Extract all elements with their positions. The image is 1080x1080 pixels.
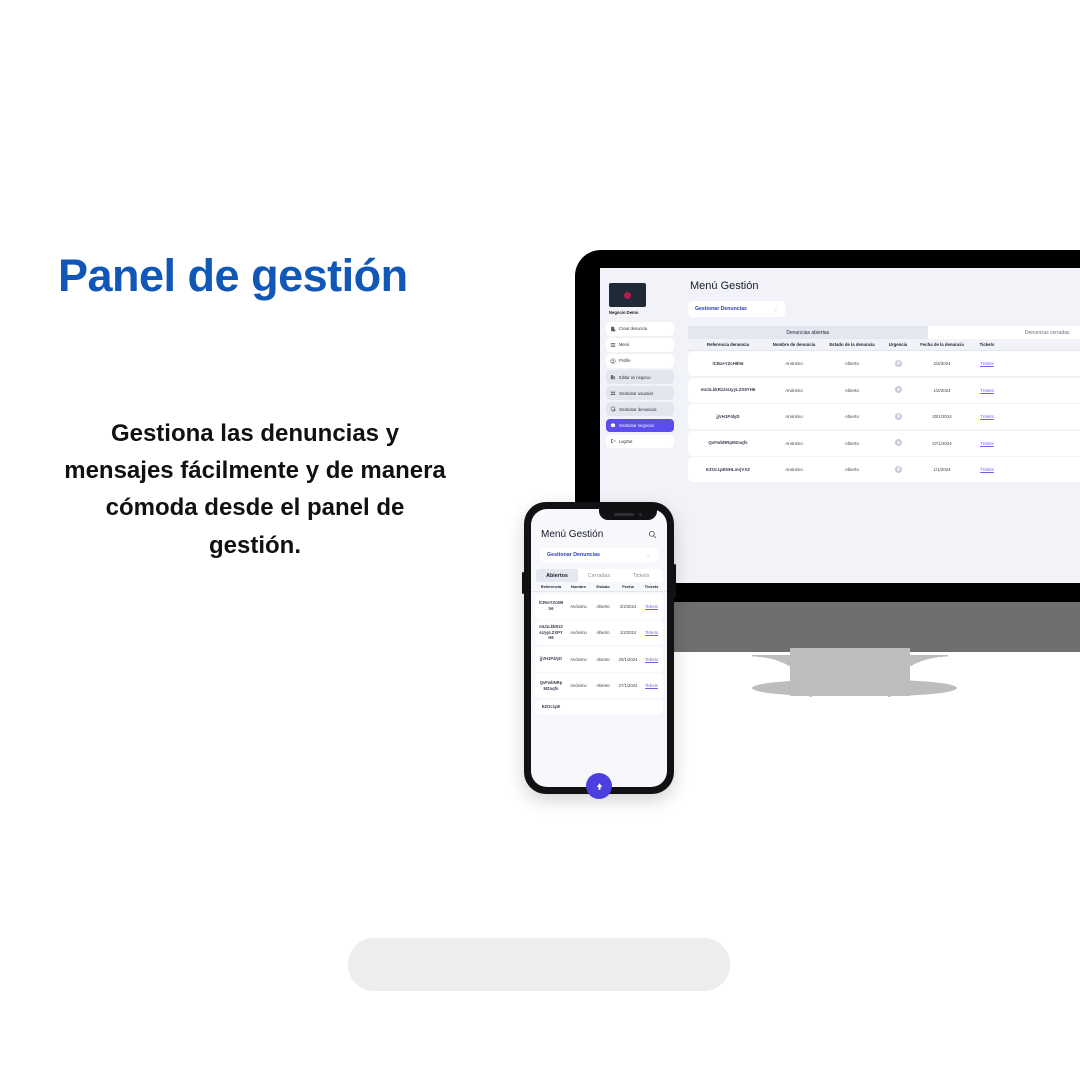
desktop-page-title: Menú Gestión <box>690 280 1080 292</box>
denuncia-nombre: Anónimo <box>766 388 822 393</box>
mobile-column-header: Referencia <box>536 584 566 589</box>
mobile-column-header: Nombre <box>566 584 591 589</box>
mobile-denuncia-estado: Abierto <box>591 604 615 609</box>
tab-denuncias-cerradas[interactable]: Denuncias cerradas <box>928 326 1080 339</box>
phone-camera-icon <box>639 513 643 517</box>
sidebar-item-label: Gestionar negocios <box>619 423 654 428</box>
tickets-link[interactable]: Tickets <box>970 361 1004 366</box>
sidebar-item-editar-mi-negocio[interactable]: Editar mi negocio <box>606 370 674 384</box>
logo-mark <box>624 292 631 299</box>
mobile-column-header: Fecha <box>615 584 641 589</box>
table-row[interactable]: jjVH1P4lyDAnónimoAbierto20/1/2024Tickets <box>688 404 1080 429</box>
document-plus-icon <box>610 326 616 332</box>
column-header: Referencia denuncia <box>690 342 766 347</box>
mobile-denuncia-nombre: Anónimo <box>566 657 591 662</box>
users-icon <box>610 390 616 396</box>
search-icon[interactable] <box>648 530 657 539</box>
tickets-link[interactable]: Tickets <box>970 467 1004 472</box>
tickets-link[interactable]: Tickets <box>970 441 1004 446</box>
table-row[interactable]: EZOc1pENHLmrjVXZAnónimoAbierto1/1/2024Ti… <box>688 457 1080 482</box>
sidebar-item-men[interactable]: Menú <box>606 338 674 352</box>
mobile-tickets-link[interactable]: Tickets <box>641 657 662 662</box>
mobile-denuncia-reference[interactable]: jjVH1P4lyD <box>536 656 566 662</box>
mobile-list-item[interactable]: EZOc1pE <box>535 700 663 714</box>
column-header: Urgencia <box>882 342 914 347</box>
mobile-column-header: Estado <box>591 584 615 589</box>
desktop-tabs: Denuncias abiertasDenuncias cerradas <box>688 326 1080 339</box>
phone-speaker <box>614 513 634 516</box>
mobile-denuncia-nombre: Anónimo <box>566 630 591 635</box>
sidebar-nav: Crear denunciaMenúProfileEditar mi negoc… <box>605 322 675 448</box>
column-header: Fecha de la denuncia <box>914 342 970 347</box>
denuncia-estado: Abierto <box>822 388 882 393</box>
promo-subcopy: Gestiona las denuncias y mensajes fácilm… <box>60 415 450 564</box>
shield-check-icon <box>610 406 616 412</box>
sidebar-item-label: Crear denuncia <box>619 326 647 331</box>
sidebar-item-label: Profile <box>619 358 631 363</box>
briefcase-icon <box>610 422 616 428</box>
phone-screen: Menú Gestión Gestionar Denuncias Abierto… <box>531 509 667 787</box>
denuncia-fecha: 1/1/2024 <box>914 467 970 472</box>
mobile-denuncia-reference[interactable]: QvFwbNRpMZoqfs <box>536 680 566 691</box>
mobile-denuncia-fecha: 27/1/2024 <box>615 683 641 688</box>
manage-select[interactable]: Gestionar Denuncias <box>688 301 785 317</box>
mobile-column-header: Tickets <box>641 584 662 589</box>
mobile-list-item[interactable]: jjVH1P4lyDAnónimoAbierto20/1/2024Tickets <box>535 647 663 672</box>
mobile-tab-tickets[interactable]: Tickets <box>620 569 662 582</box>
mobile-tickets-link[interactable]: Tickets <box>641 630 662 635</box>
mobile-denuncia-estado: Abierto <box>591 657 615 662</box>
denuncia-estado: Abierto <box>822 414 882 419</box>
page-title: Panel de gestión <box>58 250 408 302</box>
mobile-manage-select-value: Gestionar Denuncias <box>547 552 600 558</box>
mobile-list-item[interactable]: mU1LkkRz2sUyyLZXPYH6AnónimoAbierto1/2/20… <box>535 620 663 645</box>
sidebar-item-logout[interactable]: LogOut <box>606 435 674 449</box>
denuncia-fecha: 2/2/2024 <box>914 361 970 366</box>
denuncia-reference[interactable]: QvFwbNRpMZoqfs <box>690 440 766 446</box>
mobile-denuncia-estado: Abierto <box>591 683 615 688</box>
desktop-table-header: Referencia denunciaNombre de denunciaEst… <box>688 339 1080 351</box>
chevron-down-icon <box>773 307 778 312</box>
table-row[interactable]: lCBzeYZcH8h6AnónimoAbierto2/2/2024Ticket… <box>688 351 1080 376</box>
urgency-badge-icon <box>882 466 914 474</box>
phone-volume-button[interactable] <box>522 572 524 594</box>
mobile-table-header: ReferenciaNombreEstadoFechaTickets <box>531 582 667 592</box>
denuncia-nombre: Anónimo <box>766 441 822 446</box>
mobile-denuncia-fecha: 2/2/2024 <box>615 604 641 609</box>
mobile-tabs: AbiertosCerradasTickets <box>536 569 662 582</box>
sidebar-item-crear-denuncia[interactable]: Crear denuncia <box>606 322 674 336</box>
sidebar-item-label: Menú <box>619 342 629 347</box>
denuncia-reference[interactable]: lCBzeYZcH8h6 <box>690 361 766 367</box>
phone-notch <box>599 509 657 520</box>
column-header: Tickets <box>970 342 1004 347</box>
mobile-denuncia-estado: Abierto <box>591 630 615 635</box>
sidebar-item-gestionar-negocios[interactable]: Gestionar negocios <box>606 419 674 433</box>
denuncia-nombre: Anónimo <box>766 467 822 472</box>
mobile-denuncia-reference[interactable]: EZOc1pE <box>536 704 566 710</box>
logout-icon <box>610 438 616 444</box>
table-row[interactable]: QvFwbNRpMZoqfsAnónimoAbierto27/1/2024Tic… <box>688 431 1080 456</box>
upload-arrow-icon[interactable] <box>586 773 612 799</box>
poster-canvas: Panel de gestión Gestiona las denuncias … <box>0 0 1080 1080</box>
sidebar-item-gestionar-usuarios[interactable]: Gestionar usuarios <box>606 386 674 400</box>
sidebar-item-label: Editar mi negocio <box>619 375 651 380</box>
manage-select-value: Gestionar Denuncias <box>695 306 747 312</box>
mobile-manage-select[interactable]: Gestionar Denuncias <box>540 548 658 562</box>
mobile-tab-abiertos[interactable]: Abiertos <box>536 569 578 582</box>
mobile-denuncia-reference[interactable]: lCRmYZcM9h6 <box>536 600 566 611</box>
mobile-denuncia-nombre: Anónimo <box>566 683 591 688</box>
urgency-badge-icon <box>882 360 914 368</box>
phone-power-button[interactable] <box>674 564 676 598</box>
denuncia-fecha: 20/1/2024 <box>914 414 970 419</box>
sidebar-item-profile[interactable]: Profile <box>606 354 674 368</box>
sidebar-item-label: Gestionar usuarios <box>619 391 653 396</box>
building-icon <box>610 374 616 380</box>
user-circle-icon <box>610 358 616 364</box>
urgency-badge-icon <box>882 386 914 394</box>
mobile-list-item[interactable]: QvFwbNRpMZoqfsAnónimoAbierto27/1/2024Tic… <box>535 673 663 698</box>
tab-denuncias-abiertas[interactable]: Denuncias abiertas <box>688 326 928 339</box>
column-header: Estado de la denuncia <box>822 342 882 347</box>
urgency-badge-icon <box>882 439 914 447</box>
list-icon <box>610 342 616 348</box>
sidebar-item-label: LogOut <box>619 439 632 444</box>
tickets-link[interactable]: Tickets <box>970 414 1004 419</box>
denuncia-fecha: 27/1/2024 <box>914 441 970 446</box>
sidebar-item-gestionar-denuncias[interactable]: Gestionar denuncias <box>606 402 674 416</box>
denuncia-estado: Abierto <box>822 361 882 366</box>
tickets-link[interactable]: Tickets <box>970 388 1004 393</box>
mobile-table-body: lCRmYZcM9h6AnónimoAbierto2/2/2024Tickets… <box>531 594 667 714</box>
mobile-tickets-link[interactable]: Tickets <box>641 604 662 609</box>
upload-arrow-glyph <box>594 781 605 792</box>
sidebar-item-label: Gestionar denuncias <box>619 407 657 412</box>
denuncia-reference[interactable]: mU1LkkRz2sUyyLZX9YH6 <box>690 387 766 393</box>
keyboard-placeholder <box>348 938 730 991</box>
mobile-phone: Menú Gestión Gestionar Denuncias Abierto… <box>524 502 674 794</box>
urgency-badge-icon <box>882 413 914 421</box>
denuncia-estado: Abierto <box>822 441 882 446</box>
mobile-denuncia-nombre: Anónimo <box>566 604 591 609</box>
mobile-tab-cerradas[interactable]: Cerradas <box>578 569 620 582</box>
chevron-down-icon <box>646 553 651 558</box>
mobile-tickets-link[interactable]: Tickets <box>641 683 662 688</box>
mobile-list-item[interactable]: lCRmYZcM9h6AnónimoAbierto2/2/2024Tickets <box>535 594 663 619</box>
desktop-main: Menú Gestión Gestionar Denuncias Denunci… <box>680 268 1080 583</box>
table-row[interactable]: mU1LkkRz2sUyyLZX9YH6AnónimoAbierto1/2/20… <box>688 378 1080 403</box>
mobile-denuncia-reference[interactable]: mU1LkkRz2sUyyLZXPYH6 <box>536 624 566 641</box>
column-header: Nombre de denuncia <box>766 342 822 347</box>
mobile-page-title: Menú Gestión <box>541 529 603 540</box>
denuncia-nombre: Anónimo <box>766 414 822 419</box>
denuncia-reference[interactable]: jjVH1P4lyD <box>690 414 766 420</box>
denuncia-estado: Abierto <box>822 467 882 472</box>
business-name: Negocio Demo <box>609 310 675 315</box>
shield-logo-icon <box>609 283 646 307</box>
denuncia-nombre: Anónimo <box>766 361 822 366</box>
monitor-foot <box>752 680 957 696</box>
denuncia-reference[interactable]: EZOc1pENHLmrjVXZ <box>690 467 766 473</box>
denuncia-fecha: 1/2/2024 <box>914 388 970 393</box>
mobile-denuncia-fecha: 20/1/2024 <box>615 657 641 662</box>
mobile-denuncia-fecha: 1/2/2024 <box>615 630 641 635</box>
desktop-table-body: lCBzeYZcH8h6AnónimoAbierto2/2/2024Ticket… <box>688 351 1080 482</box>
